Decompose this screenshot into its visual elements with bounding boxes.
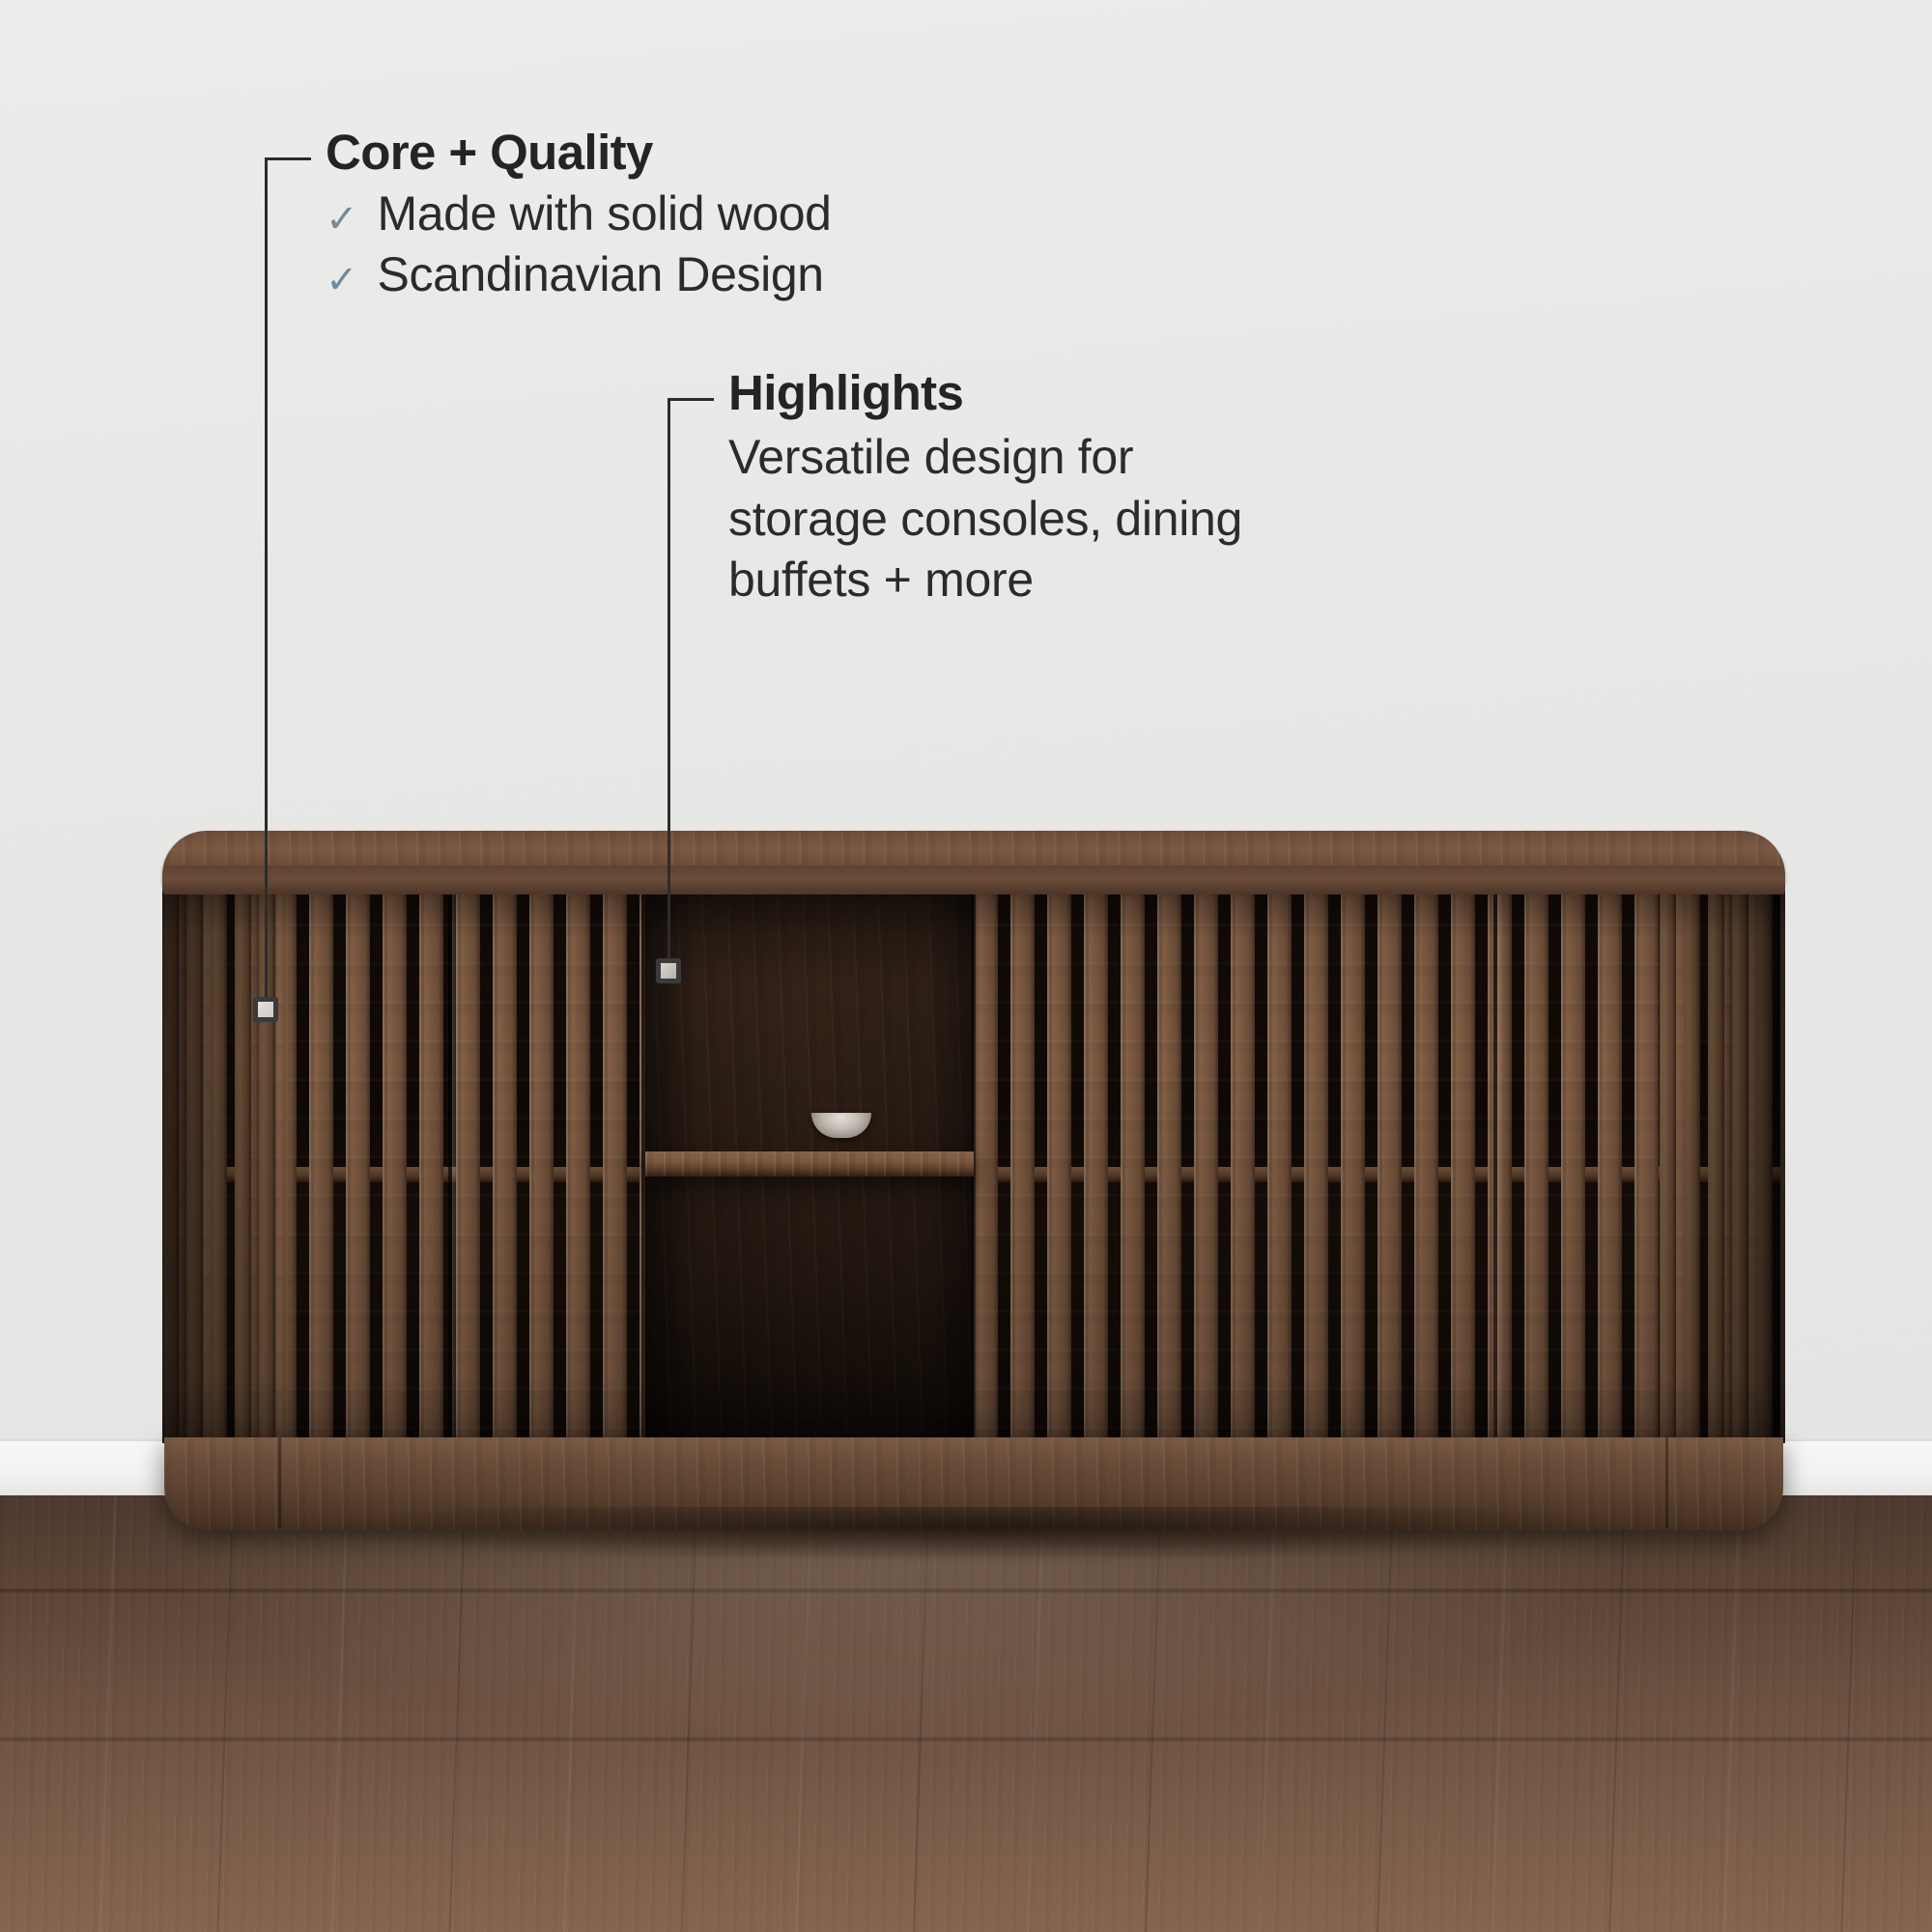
core-quality-heading: Core + Quality: [326, 127, 832, 179]
highlights-leader-horizontal: [668, 398, 714, 401]
right-door-edge-highlight: [1497, 885, 1504, 1443]
core-quality-bullet-1-label: Scandinavian Design: [378, 247, 824, 302]
highlights-leader-marker: [656, 958, 681, 983]
callout-core-quality: Core + Quality ✓ Made with solid wood ✓ …: [326, 127, 832, 302]
core-quality-bullet-1: ✓ Scandinavian Design: [326, 247, 832, 302]
core-quality-bullet-0: ✓ Made with solid wood: [326, 186, 832, 241]
callout-highlights: Highlights Versatile design for storage …: [728, 367, 1242, 611]
center-shelf-grain: [645, 1151, 974, 1177]
slatted-door-sideboard: [162, 831, 1785, 1507]
core-quality-leader-vertical: [265, 157, 268, 1016]
highlights-line-0: Versatile design for: [728, 427, 1242, 489]
cabinet-top-edge: [162, 866, 1785, 895]
core-quality-bullet-0-label: Made with solid wood: [378, 186, 832, 241]
highlights-heading: Highlights: [728, 367, 1242, 419]
highlights-line-1: storage consoles, dining: [728, 489, 1242, 551]
right-end-shading: [1660, 885, 1785, 1443]
cabinet-top: [162, 831, 1785, 887]
check-icon: ✓: [326, 200, 358, 239]
left-door-edge-highlight: [452, 885, 459, 1443]
highlights-leader-vertical: [668, 398, 670, 964]
highlights-line-2: buffets + more: [728, 550, 1242, 611]
core-quality-leader-marker: [253, 997, 278, 1022]
core-quality-leader-horizontal: [265, 157, 311, 160]
check-icon: ✓: [326, 261, 358, 299]
product-infographic: Core + Quality ✓ Made with solid wood ✓ …: [0, 0, 1932, 1932]
cabinet-body: [162, 885, 1785, 1443]
cabinet-floor-shadow: [124, 1507, 1824, 1596]
left-end-shading: [162, 885, 288, 1443]
center-shelf: [645, 1151, 974, 1177]
